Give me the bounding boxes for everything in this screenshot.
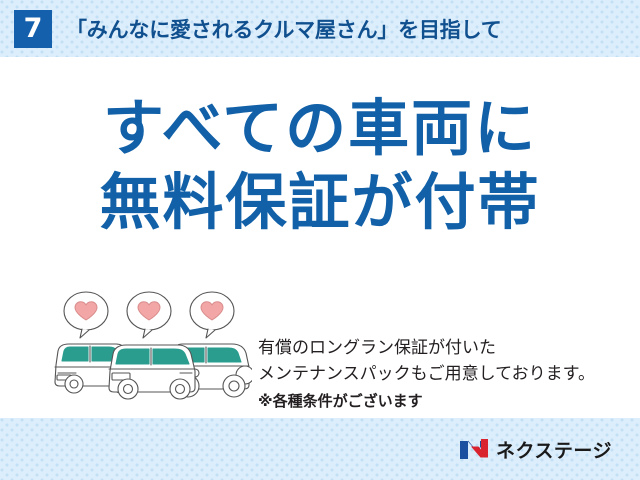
section-number: 7 <box>24 15 43 42</box>
promo-banner: 7 「みんなに愛されるクルマ屋さん」を目指して すべての車両に 無料保証が付帯 <box>0 0 640 480</box>
heart-bubble-2 <box>127 292 171 338</box>
cars-illustration <box>52 289 252 404</box>
brand-logo: ネクステージ <box>459 436 612 463</box>
headline-line-2: 無料保証が付帯 <box>0 171 640 235</box>
section-number-badge: 7 <box>14 10 52 48</box>
supporting-copy: 有償のロングラン保証が付いた メンテナンスパックもご用意しております。 ※各種条… <box>258 335 638 413</box>
brand-name: ネクステージ <box>496 436 612 463</box>
copy-line-2: メンテナンスパックもご用意しております。 <box>258 361 638 387</box>
nexstage-n-mark-icon <box>459 438 489 460</box>
copy-line-1: 有償のロングラン保証が付いた <box>258 335 638 361</box>
headline-line-1: すべての車両に <box>0 97 640 161</box>
headline: すべての車両に 無料保証が付帯 <box>0 97 640 235</box>
footer-bar: ネクステージ <box>0 418 640 480</box>
copy-line-3-note: ※各種条件がございます <box>258 390 638 413</box>
header-bar: 7 「みんなに愛されるクルマ屋さん」を目指して <box>0 0 640 57</box>
heart-bubble-1 <box>64 292 108 338</box>
cars-illustration-svg <box>52 289 252 404</box>
lower-block: 有償のロングラン保証が付いた メンテナンスパックもご用意しております。 ※各種条… <box>0 289 640 414</box>
car-middle <box>109 345 195 399</box>
main-stage: すべての車両に 無料保証が付帯 <box>0 57 640 418</box>
header-title: 「みんなに愛されるクルマ屋さん」を目指して <box>66 14 502 44</box>
heart-bubble-3 <box>190 292 234 338</box>
